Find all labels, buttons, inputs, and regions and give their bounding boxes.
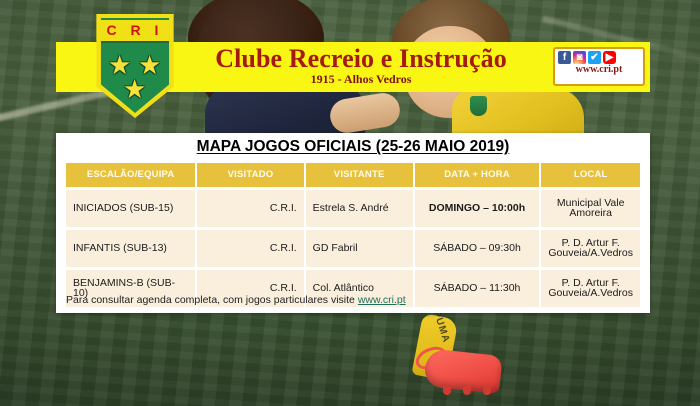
footnote: Para consultar agenda completa, com jogo… [66, 293, 406, 307]
twitter-icon[interactable]: ✔ [588, 51, 601, 64]
table-header-row: ESCALÃO/EQUIPA VISITADO VISITANTE DATA +… [66, 163, 640, 188]
cell-visitado: C.R.I. [196, 228, 304, 268]
header-website-url[interactable]: www.cri.pt [555, 65, 643, 75]
crest-star-icon: ★ [123, 76, 146, 102]
schedule-panel: MAPA JOGOS OFICIAIS (25-26 MAIO 2019) ES… [56, 133, 650, 313]
page-title: MAPA JOGOS OFICIAIS (25-26 MAIO 2019) [56, 137, 650, 157]
cell-local: Municipal Vale Amoreira [540, 188, 640, 228]
cell-escalao-equipa: INICIADOS (SUB-15) [66, 188, 196, 228]
table-row: INFANTIS (SUB-13) C.R.I. GD Fabril SÁBAD… [66, 228, 640, 268]
boot-stud [483, 386, 491, 395]
club-crest-logo: C R I ★ ★ ★ [93, 14, 177, 118]
youtube-icon[interactable]: ▶ [603, 51, 616, 64]
boot-stud [463, 386, 471, 395]
column-header-data-hora: DATA + HORA [414, 163, 541, 188]
facebook-icon[interactable]: f [558, 51, 571, 64]
cell-local: P. D. Artur F. Gouveia/A.Vedros [540, 268, 640, 307]
column-header-visitado: VISITADO [196, 163, 304, 188]
crest-initials: C R I [101, 21, 169, 40]
column-header-visitante: VISITANTE [305, 163, 414, 188]
social-icon-row: f ◙ ✔ ▶ [558, 51, 616, 64]
column-header-escalao-equipa: ESCALÃO/EQUIPA [66, 163, 196, 188]
cell-visitado: C.R.I. [196, 188, 304, 228]
table-row: INICIADOS (SUB-15) C.R.I. Estrela S. And… [66, 188, 640, 228]
instagram-icon[interactable]: ◙ [573, 51, 586, 64]
cell-visitante: Estrela S. André [305, 188, 414, 228]
cell-local: P. D. Artur F. Gouveia/A.Vedros [540, 228, 640, 268]
club-name: Clube Recreio e Instrução [196, 44, 526, 74]
social-links-box[interactable]: f ◙ ✔ ▶ www.cri.pt [553, 47, 645, 86]
cell-data-hora: SÁBADO – 11:30h [414, 268, 541, 307]
poster-root: PUMA Clube Recreio e Instrução 1915 - Al… [0, 0, 700, 406]
shirt-badge [470, 96, 487, 116]
games-table: ESCALÃO/EQUIPA VISITADO VISITANTE DATA +… [66, 163, 640, 307]
column-header-local: LOCAL [540, 163, 640, 188]
cell-data-hora: SÁBADO – 09:30h [414, 228, 541, 268]
footnote-text: Para consultar agenda completa, com jogo… [66, 294, 358, 306]
boot-stud [443, 386, 451, 395]
cell-visitante: GD Fabril [305, 228, 414, 268]
club-subtitle: 1915 - Alhos Vedros [196, 72, 526, 87]
cell-escalao-equipa: INFANTIS (SUB-13) [66, 228, 196, 268]
footnote-website-link[interactable]: www.cri.pt [358, 294, 406, 306]
cell-data-hora: DOMINGO – 10:00h [414, 188, 541, 228]
